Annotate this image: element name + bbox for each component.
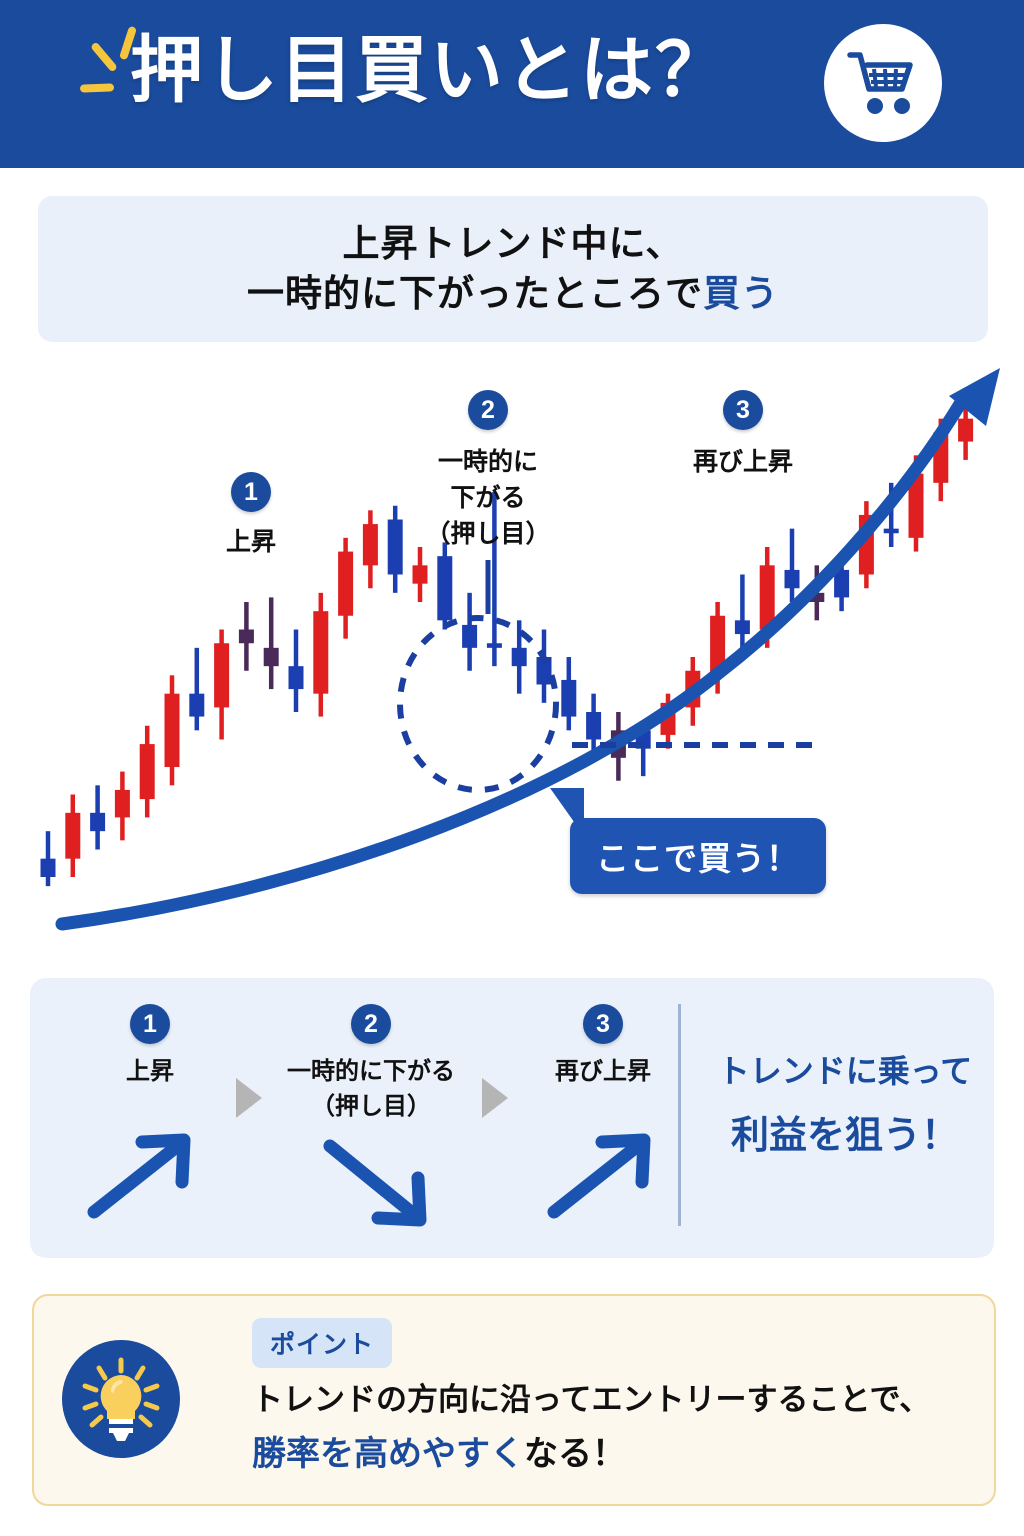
step-label-2-line-1: 一時的に下がる — [252, 1056, 490, 1087]
buy-here-callout: ここで買う！ — [570, 818, 826, 894]
shopping-cart-icon — [824, 24, 942, 142]
chart-label-2-line-2: 下がる — [412, 482, 564, 516]
step-label-2-line-2: （押し目） — [252, 1091, 490, 1122]
arrow-up-right-icon-2 — [540, 1126, 662, 1226]
candle-wick — [195, 648, 200, 731]
candle-wick — [269, 597, 274, 689]
point-highlight-text: 勝率を高めやすく — [252, 1426, 524, 1475]
chart-badge-1: 1 — [231, 472, 271, 512]
subtitle-line-2: 一時的に下がったところで買う — [247, 269, 779, 319]
point-text-line-1: トレンドの方向に沿ってエントリーすることで、 — [252, 1374, 930, 1419]
subtitle-line-2-text: 一時的に下がったところで — [247, 273, 703, 314]
point-suffix-text: なる！ — [524, 1435, 626, 1473]
point-panel: ポイント トレンドの方向に沿ってエントリーすることで、 勝率を高めやすくなる！ — [32, 1294, 996, 1506]
chart-badge-2: 2 — [468, 390, 508, 430]
candle-body — [462, 625, 477, 648]
candle-body — [189, 694, 204, 717]
candle-body — [289, 666, 304, 689]
candle-body — [65, 813, 80, 859]
page-title: 押し目買いとは？ — [130, 34, 730, 107]
candle-wick — [46, 831, 51, 886]
arrow-down-right-icon — [312, 1130, 440, 1234]
candle-body — [90, 813, 105, 831]
candle-body — [239, 630, 254, 644]
chart-label-1: 上昇 — [199, 526, 303, 560]
candle-body — [561, 680, 576, 717]
step-item-3: 3 再び上昇 — [530, 1004, 676, 1087]
candle-body — [487, 643, 502, 648]
candle-body — [884, 529, 899, 534]
candle-body — [115, 790, 130, 818]
candle-body — [512, 648, 527, 666]
subtitle-box: 上昇トレンド中に、 一時的に下がったところで買う — [38, 196, 988, 342]
candle-body — [140, 744, 155, 799]
steps-message: トレンドに乗って 利益を狙う！ — [700, 1046, 990, 1159]
candle-wick — [740, 575, 745, 648]
step-badge-1: 1 — [130, 1004, 170, 1044]
candle-body — [165, 694, 180, 767]
candle-body — [735, 620, 750, 634]
steps-message-line-1: トレンドに乗って — [700, 1046, 990, 1092]
step-label-1: 上昇 — [88, 1056, 212, 1087]
steps-message-line-2: 利益を狙う！ — [731, 1104, 959, 1159]
chart-label-2-line-3: （押し目） — [412, 518, 564, 552]
candle-body — [338, 552, 353, 616]
step-label-3: 再び上昇 — [530, 1056, 676, 1087]
candle-body — [413, 565, 428, 583]
candle-body — [264, 648, 279, 666]
candle-body — [41, 859, 56, 877]
candle-body — [388, 520, 403, 575]
step-badge-2: 2 — [351, 1004, 391, 1044]
step-badge-3: 3 — [583, 1004, 623, 1044]
candle-body — [313, 611, 328, 694]
step-item-2: 2 一時的に下がる （押し目） — [252, 1004, 490, 1122]
candle-body — [958, 419, 973, 442]
candle-body — [363, 524, 378, 565]
subtitle-line-1: 上昇トレンド中に、 — [343, 219, 684, 269]
candlestick-chart: 1 上昇 2 一時的に 下がる （押し目） 3 再び上昇 — [0, 352, 1024, 968]
chart-label-3: 再び上昇 — [681, 446, 805, 480]
step-item-1: 1 上昇 — [88, 1004, 212, 1087]
lightbulb-icon — [62, 1340, 180, 1458]
point-badge: ポイント — [252, 1318, 392, 1368]
candle-body — [214, 643, 229, 707]
steps-divider — [678, 1004, 681, 1226]
chart-badge-3: 3 — [723, 390, 763, 430]
page-header: 押し目買いとは？ — [0, 0, 1024, 168]
chart-svg — [0, 352, 1024, 968]
point-text-line-2: 勝率を高めやすくなる！ — [252, 1426, 626, 1475]
candle-body — [586, 712, 601, 740]
candle-body — [437, 556, 452, 620]
candle-wick — [790, 529, 795, 602]
arrow-up-right-icon-1 — [80, 1126, 202, 1226]
subtitle-accent-word: 買う — [703, 273, 779, 314]
candle-body — [785, 570, 800, 588]
triangle-right-icon-2 — [482, 1078, 508, 1118]
chart-label-2-line-1: 一時的に — [412, 446, 564, 480]
pullback-highlight-circle — [400, 618, 556, 790]
